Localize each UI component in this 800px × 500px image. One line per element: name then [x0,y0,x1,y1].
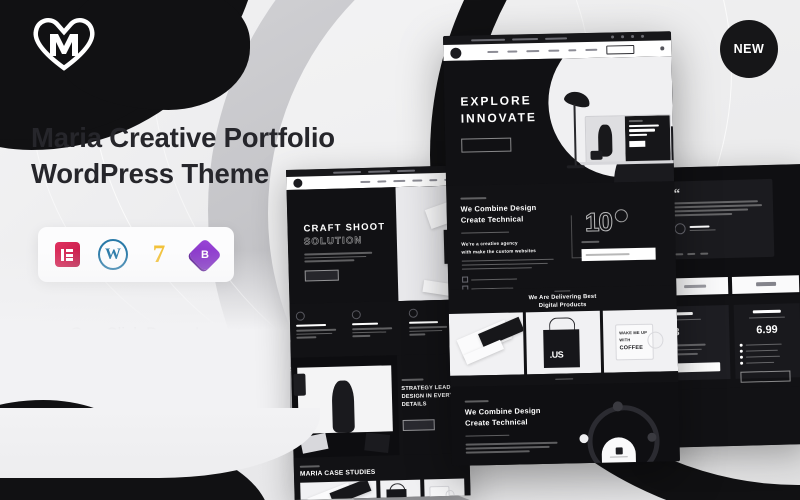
topbar-email [471,38,505,41]
hero-title-primary: CRAFT SHOOT [303,221,396,234]
nav-link-home[interactable] [487,51,498,53]
client-logo-card[interactable] [732,275,799,294]
main-bottom-about: We Combine Design Create Technical [450,382,680,466]
bottom-title-2: Create Technical [465,416,569,430]
nav-link-home [360,180,370,182]
avatar [674,223,685,234]
tote-label: .US [550,350,564,360]
mockup-main-screenshot: EXPLORE INNOVATE [443,31,680,466]
nav-link-blog[interactable] [568,49,576,51]
mock-left-strategy: STRATEGY LEADING DESIGN IN EVERY DETAILS [291,353,470,458]
nav-link-blog [429,179,437,181]
promo-banner: NEW Maria Creative Portfolio WordPress T… [0,0,800,500]
main-product-grid: .US WAKE ME UPWITHCOFFEE [449,309,678,376]
product-card-tote-bag[interactable]: .US [526,311,601,375]
topbar-phone [512,38,538,41]
nav-logo-icon [293,179,302,188]
main-hero: EXPLORE INNOVATE [444,56,675,186]
pricing-cta-button[interactable] [740,370,790,382]
nav-link-about [377,180,386,182]
cases-title: MARIA CASE STUDIES [300,466,464,477]
topbar-contact [333,171,361,174]
about-sub-2: with make the custom websites [461,246,567,256]
pricing-card-standard[interactable]: 6.99 [733,303,800,379]
main-about-section: We Combine Design Create Technical We're… [446,181,676,290]
search-icon[interactable] [660,46,664,50]
hero-title-explore: EXPLORE [460,93,556,109]
product-card-business-cards[interactable] [449,312,524,376]
topbar-hours [397,169,415,171]
case-card-business-cards[interactable] [300,480,377,500]
social-icon-linkedin[interactable] [641,35,644,38]
title-line-1: Maria Creative Portfolio [31,120,371,156]
nav-link-pages [412,179,422,181]
hero-cta-button[interactable] [305,269,339,281]
nav-quote-button[interactable] [606,44,634,54]
products-title-2: Digital Products [539,302,587,309]
mockup-left-screenshot: CRAFT SHOOT SOLUTION [286,165,471,499]
nav-link-contact[interactable] [585,49,597,51]
topbar-address [545,37,567,39]
nav-link-services[interactable] [526,50,539,52]
mock-left-features [290,299,467,358]
hero-title-innovate: INNOVATE [461,110,557,126]
social-icon-instagram[interactable] [631,35,634,38]
mock-left-cases: MARIA CASE STUDIES [294,453,471,500]
nav-link-about[interactable] [507,50,517,52]
nav-logo-icon [450,47,461,58]
topbar-phone [368,170,390,173]
hero-discover-button[interactable] [461,138,511,153]
about-title-2: Create Technical [461,213,567,227]
products-title-1: We Are Delivering Best [529,294,597,301]
social-icon-facebook[interactable] [611,35,614,38]
nav-link-pages[interactable] [548,50,559,52]
years-number: 10 [585,207,613,239]
maria-heart-m-logo [28,12,100,74]
mock-left-hero: CRAFT SHOOT SOLUTION [287,185,466,304]
nav-link-services [393,179,405,181]
main-nav-links [487,44,634,56]
nav-links [360,178,455,182]
laptop-mockup [585,114,672,164]
pricing-price-standard: 6.99 [739,323,796,336]
strategy-cta-button[interactable] [402,419,434,431]
mug-label: WAKE ME UPWITHCOFFEE [619,330,647,354]
quote-icon: “ [674,186,766,199]
product-card-coffee-mug[interactable]: WAKE ME UPWITHCOFFEE [603,309,678,373]
social-icon-twitter[interactable] [621,35,624,38]
new-badge: NEW [720,20,778,78]
testimonial-card: “ [666,179,774,260]
hero-title-secondary: SOLUTION [304,234,397,247]
